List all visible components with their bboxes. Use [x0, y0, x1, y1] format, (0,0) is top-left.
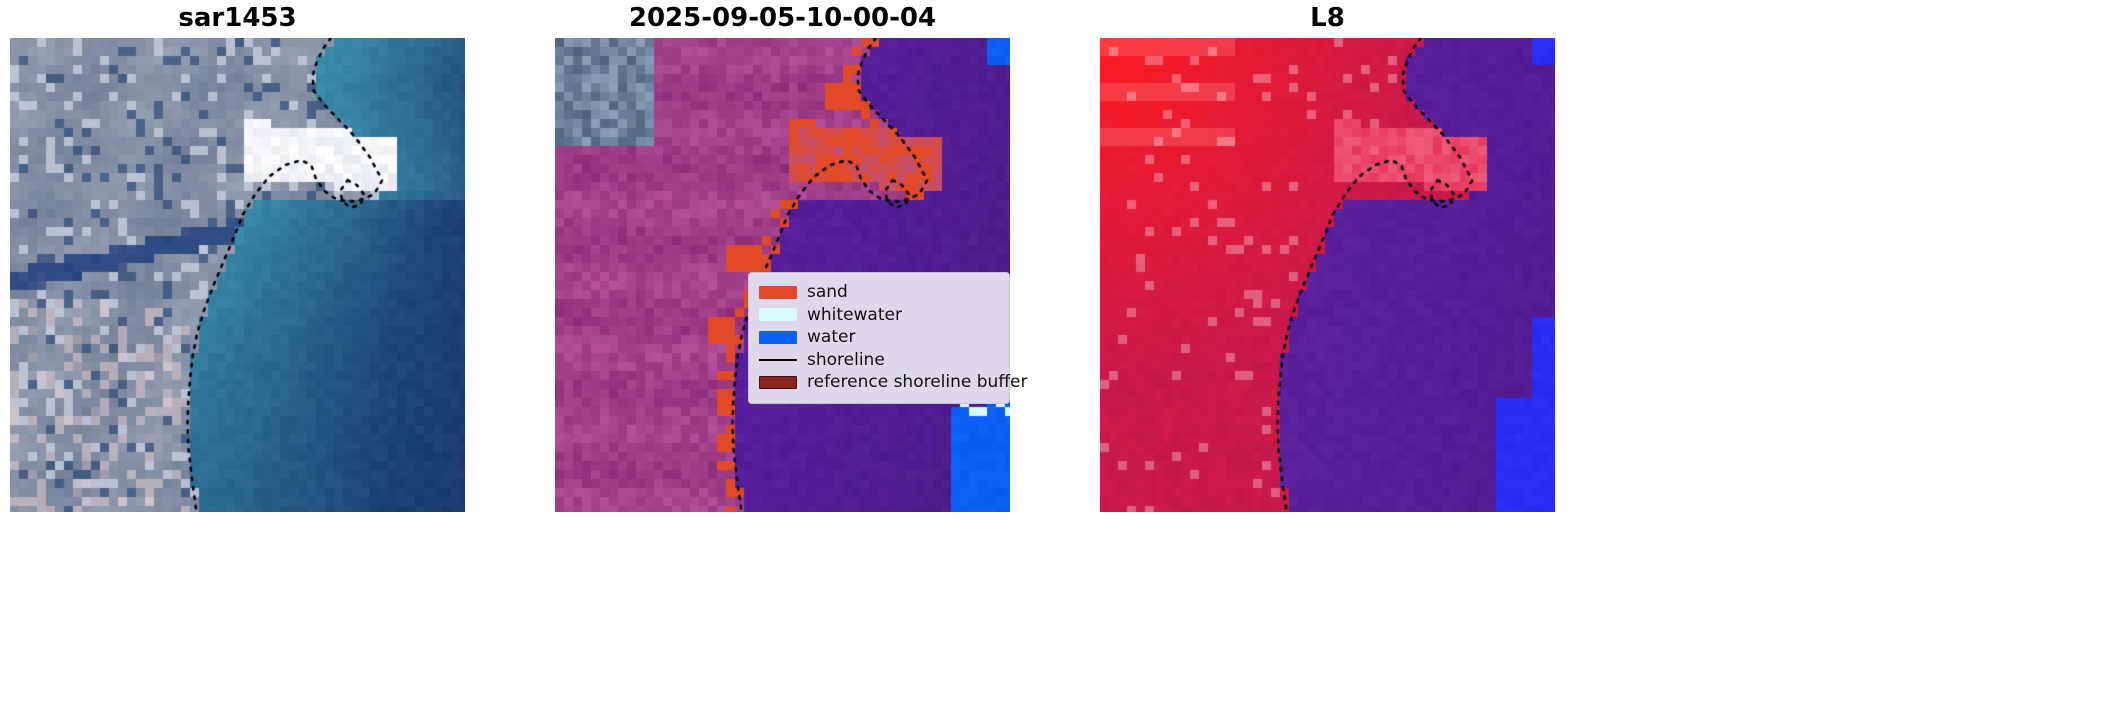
panel-title-classified: 2025-09-05-10-00-04 [500, 2, 1065, 34]
legend-item-shoreline: shoreline [759, 349, 999, 372]
legend-swatch-sand [759, 286, 797, 299]
panel-title-sar1453: sar1453 [10, 2, 465, 34]
legend-swatch-reference-buffer [759, 376, 797, 389]
figure-canvas: sar1453 2025-09-05-10-00-04 L8 sand whit… [0, 0, 2122, 706]
legend-label-sand: sand [807, 282, 848, 302]
legend-label-reference-buffer: reference shoreline buffer [807, 372, 1028, 392]
sar1453-raster [10, 38, 465, 512]
legend-item-sand: sand [759, 281, 999, 304]
legend-line-shoreline [759, 359, 797, 361]
legend-swatch-whitewater [759, 308, 797, 321]
l8-raster [1100, 38, 1555, 512]
legend-item-whitewater: whitewater [759, 304, 999, 327]
panel-image-sar1453 [10, 38, 465, 512]
panel-title-l8: L8 [1100, 2, 1555, 34]
legend-box[interactable]: sand whitewater water shoreline referenc… [748, 272, 1010, 404]
panel-image-l8 [1100, 38, 1555, 512]
legend-label-shoreline: shoreline [807, 350, 885, 370]
legend-label-water: water [807, 327, 855, 347]
legend-item-reference-buffer: reference shoreline buffer [759, 371, 999, 394]
legend-label-whitewater: whitewater [807, 305, 902, 325]
legend-swatch-water [759, 331, 797, 344]
legend-item-water: water [759, 326, 999, 349]
